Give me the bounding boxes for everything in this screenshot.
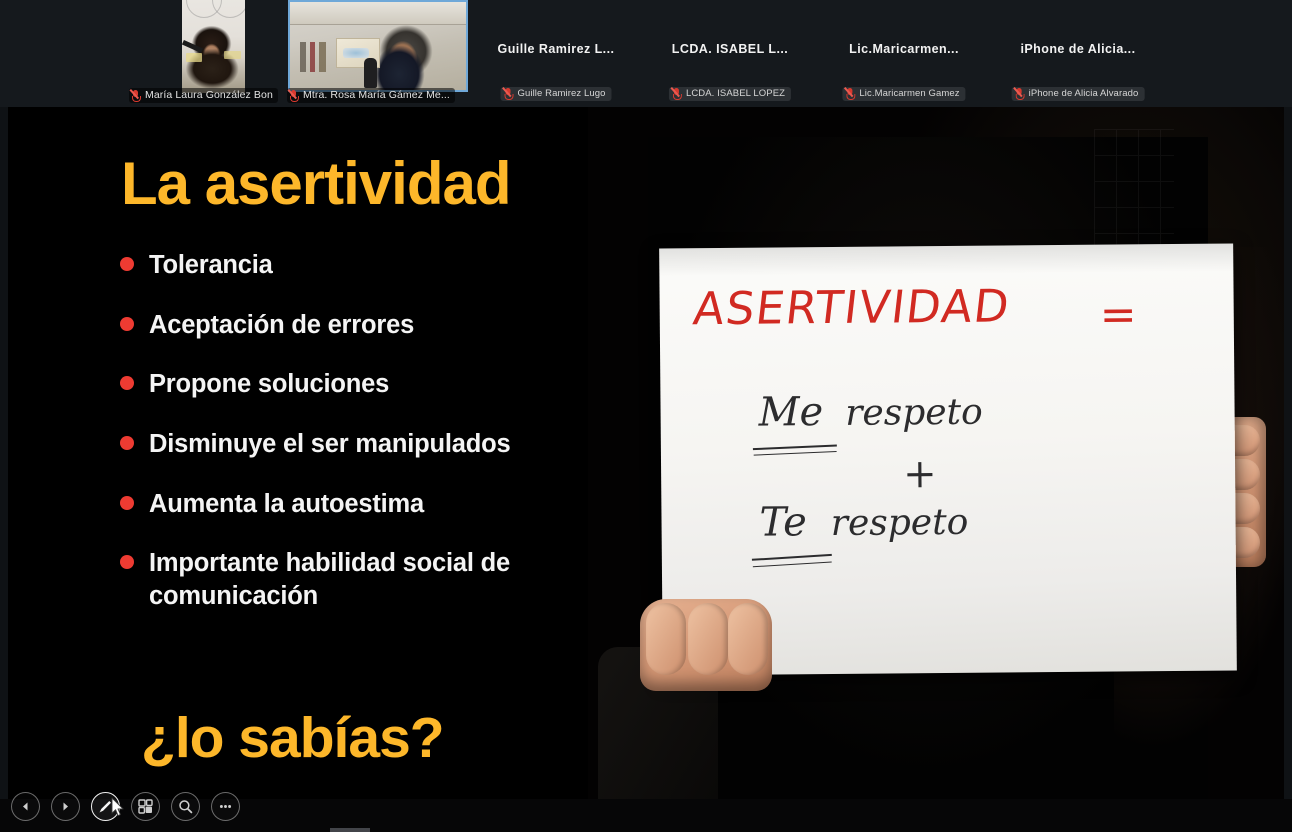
mic-muted-icon — [505, 88, 514, 99]
slide-photo: ASERTIVIDAD = Merespeto + Terespeto — [588, 107, 1284, 799]
mic-muted-icon — [1016, 88, 1025, 99]
participant-name-label: iPhone de Alicia Alvarado — [1029, 88, 1139, 99]
sign-word-te: Te — [759, 499, 807, 545]
bullet-dot-icon — [120, 555, 134, 569]
previous-slide-button[interactable] — [11, 792, 40, 821]
next-slide-button[interactable] — [51, 792, 80, 821]
zoom-search-button[interactable] — [171, 792, 200, 821]
participant-header-label: Lic.Maricarmen... — [817, 42, 991, 56]
bullet-text: Propone soluciones — [149, 368, 389, 401]
sign-line-me-respeto: Merespeto — [758, 388, 983, 436]
sign-word-me: Me — [758, 389, 823, 436]
participant-name-tag: Lic.Maricarmen Gamez — [842, 87, 965, 101]
window-resize-handle[interactable] — [330, 828, 370, 832]
sign-word-respeto-2: respeto — [831, 502, 969, 544]
participant-tile-maria-laura-gonzalez-bon[interactable]: María Laura González Bon — [125, 0, 283, 107]
bullet-text: Tolerancia — [149, 249, 273, 282]
participant-name-label: Guille Ramirez Lugo — [518, 88, 606, 99]
slide-control-toolbar — [0, 799, 1292, 832]
slide-title: La asertividad — [121, 149, 511, 218]
list-item: Propone soluciones — [120, 368, 650, 401]
bullet-dot-icon — [120, 496, 134, 510]
sign-equals-sign: = — [1100, 289, 1137, 340]
participant-video-feed — [288, 0, 468, 92]
annotate-pen-button[interactable] — [91, 792, 120, 821]
list-item: Disminuye el ser manipulados — [120, 428, 650, 461]
more-options-button[interactable] — [211, 792, 240, 821]
participant-header-label: Guille Ramirez L... — [469, 42, 643, 56]
slide-bullet-list: Tolerancia Aceptación de errores Propone… — [120, 249, 650, 639]
participant-name-label: Lic.Maricarmen Gamez — [859, 88, 959, 99]
participant-header-label: LCDA. ISABEL L... — [643, 42, 817, 56]
hand-left — [640, 599, 772, 691]
participant-header-label: iPhone de Alicia... — [991, 42, 1165, 56]
pen-icon — [97, 798, 114, 815]
participant-name-label: María Laura González Bon — [145, 89, 273, 101]
bullet-text: Aceptación de errores — [149, 309, 414, 342]
mic-muted-icon — [290, 90, 299, 101]
list-item: Aumenta la autoestima — [120, 488, 650, 521]
shared-screen-slide: ASERTIVIDAD = Merespeto + Terespeto La a… — [8, 107, 1284, 799]
bullet-dot-icon — [120, 257, 134, 271]
participant-name-tag: Guille Ramirez Lugo — [501, 87, 612, 101]
slide-kicker-text: ¿lo sabías? — [141, 705, 444, 771]
participant-filmstrip: María Laura González Bon Mtra. Rosa Marí… — [0, 0, 1292, 107]
participant-video-feed — [182, 0, 245, 93]
participant-tile-iphone-de-alicia-alvarado[interactable]: iPhone de Alicia... iPhone de Alicia Alv… — [991, 0, 1165, 107]
participant-tile-lic-maricarmen-gamez[interactable]: Lic.Maricarmen... Lic.Maricarmen Gamez — [817, 0, 991, 107]
participant-tile-guille-ramirez-lugo[interactable]: Guille Ramirez L... Guille Ramirez Lugo — [469, 0, 643, 107]
participant-tile-mtra-rosa-maria-gamez[interactable]: Mtra. Rosa María Gámez Me... — [283, 0, 469, 107]
bullet-text: Aumenta la autoestima — [149, 488, 424, 521]
layout-grid-icon — [138, 799, 153, 814]
ellipsis-icon — [218, 799, 233, 814]
participant-name-tag: Mtra. Rosa María Gámez Me... — [287, 88, 455, 103]
list-item: Tolerancia — [120, 249, 650, 282]
bullet-dot-icon — [120, 376, 134, 390]
mic-muted-icon — [673, 88, 682, 99]
zoom-meeting-window: María Laura González Bon Mtra. Rosa Marí… — [0, 0, 1292, 832]
sign-plus-sign: + — [903, 451, 937, 497]
mic-muted-icon — [132, 90, 141, 101]
list-item: Importante habilidad social de comunicac… — [120, 547, 650, 612]
list-item: Aceptación de errores — [120, 309, 650, 342]
bullet-text: Importante habilidad social de comunicac… — [149, 547, 650, 612]
participant-name-tag: LCDA. ISABEL LOPEZ — [669, 87, 791, 101]
participant-name-tag: iPhone de Alicia Alvarado — [1012, 87, 1145, 101]
triangle-right-icon — [60, 801, 71, 812]
participant-tile-lcda-isabel-lopez[interactable]: LCDA. ISABEL L... LCDA. ISABEL LOPEZ — [643, 0, 817, 107]
bullet-text: Disminuye el ser manipulados — [149, 428, 510, 461]
triangle-left-icon — [20, 801, 31, 812]
magnifier-icon — [178, 799, 193, 814]
participant-name-label: LCDA. ISABEL LOPEZ — [686, 88, 785, 99]
bullet-dot-icon — [120, 317, 134, 331]
sign-word-respeto-1: respeto — [845, 392, 983, 434]
bullet-dot-icon — [120, 436, 134, 450]
sign-title-text: ASERTIVIDAD — [691, 279, 1013, 335]
layout-button[interactable] — [131, 792, 160, 821]
sign-line-te-respeto: Terespeto — [759, 498, 968, 546]
participant-name-tag: María Laura González Bon — [129, 88, 278, 103]
mic-muted-icon — [846, 88, 855, 99]
participant-name-label: Mtra. Rosa María Gámez Me... — [303, 89, 450, 101]
